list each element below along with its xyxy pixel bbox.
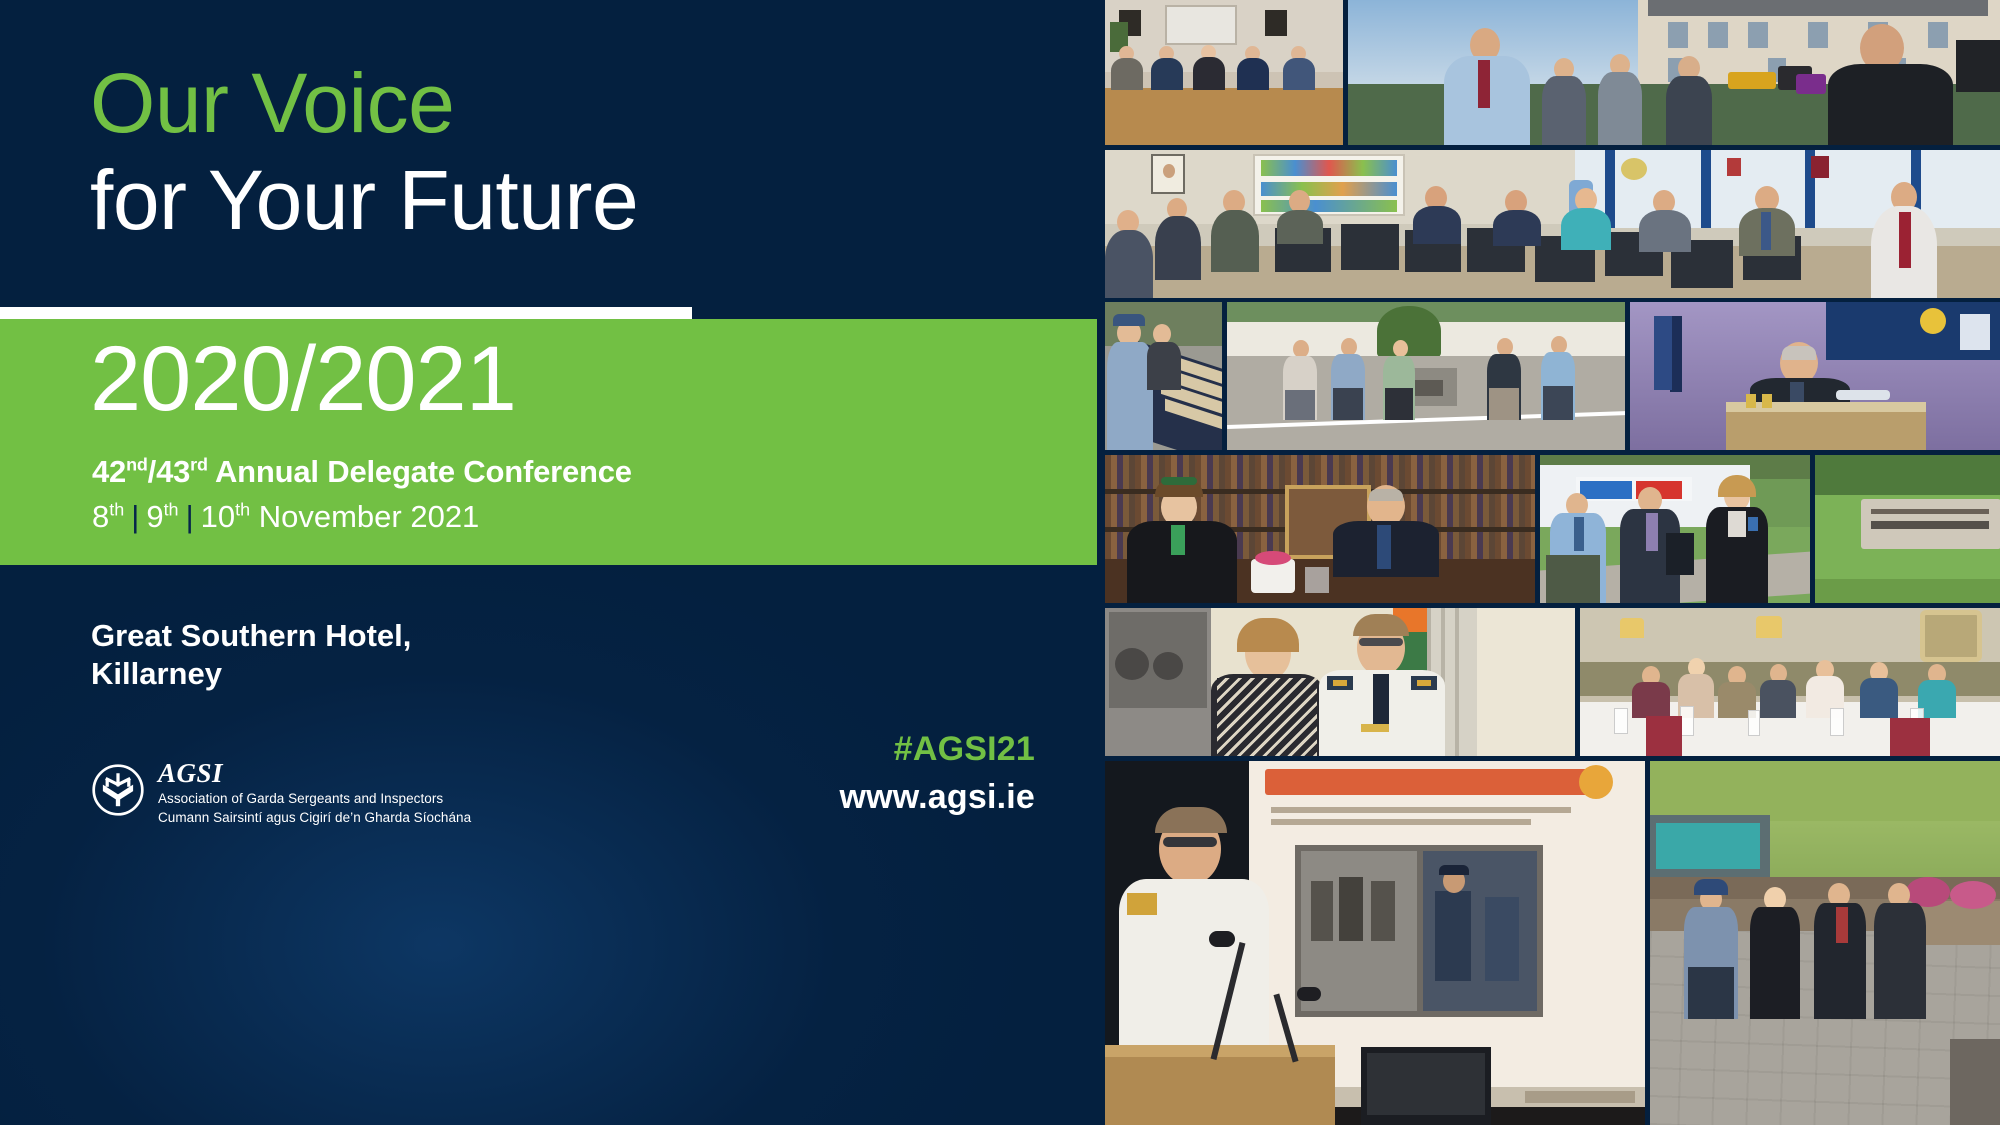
seated-audience-dining-room-photo: [1580, 608, 2000, 756]
date-day-1: 8: [92, 499, 109, 534]
garda-officer-reviewing-documents-photo: [1105, 302, 1222, 450]
speaker-at-podium-agsi-banner-photo: [1630, 302, 2000, 450]
collage-row: [1105, 302, 2000, 450]
presentation-new-operating-model-photo: [1105, 761, 1645, 1125]
date-month-year: November 2021: [250, 499, 479, 534]
headline-line-2: for Your Future: [90, 159, 638, 242]
agsi-circular-emblem-icon: [91, 763, 145, 817]
headline-line-1: Our Voice: [90, 62, 638, 145]
agsi-logo: AGSI Association of Garda Sergeants and …: [91, 760, 471, 827]
collage-row: [1105, 455, 2000, 603]
garda-headquarters-sign-photo: [1815, 455, 2000, 603]
conference-edition-label: 42nd/43rd Annual Delegate Conference: [92, 454, 632, 490]
collage-row: [1105, 0, 2000, 145]
date-day-1-suffix: th: [109, 500, 124, 520]
agsi-logo-text: AGSI Association of Garda Sergeants and …: [158, 760, 471, 827]
collage-row: [1105, 608, 2000, 756]
agsi-name-irish: Cumann Sairsintí agus Cigirí de’n Gharda…: [158, 809, 471, 828]
event-hashtag: #AGSI21: [839, 732, 1035, 768]
page-title: Our Voice for Your Future: [90, 62, 638, 242]
three-delegates-walking-photo: [1540, 455, 1810, 603]
website-url[interactable]: www.agsi.ie: [839, 780, 1035, 816]
date-day-3: 10: [201, 499, 235, 534]
venue-line-2: Killarney: [91, 655, 411, 693]
edition-b-suffix: rd: [190, 455, 208, 475]
conference-years: 2020/2021: [90, 333, 516, 425]
boardroom-panel-five-people-photo: [1105, 0, 1343, 145]
collage-row: [1105, 150, 2000, 298]
conference-poster: Our Voice for Your Future 2020/2021 42nd…: [0, 0, 2000, 1125]
date-day-2-suffix: th: [164, 500, 179, 520]
conference-dates: 8th|9th|10th November 2021: [92, 499, 479, 535]
library-interview-two-people-photo: [1105, 455, 1535, 603]
white-divider-bar: [0, 307, 692, 319]
date-separator-1: |: [124, 499, 146, 535]
date-day-2: 9: [146, 499, 163, 534]
memorial-garden-group-photo: [1227, 302, 1625, 450]
edition-title: Annual Delegate Conference: [208, 454, 632, 489]
agsi-acronym: AGSI: [158, 760, 471, 787]
date-separator-2: |: [179, 499, 201, 535]
edition-a: 42: [92, 454, 126, 489]
green-details-band: 2020/2021 42nd/43rd Annual Delegate Conf…: [0, 319, 1097, 565]
edition-mid: /43: [148, 454, 191, 489]
group-outdoors-courtyard-photo: [1650, 761, 2000, 1125]
agsi-name-english: Association of Garda Sergeants and Inspe…: [158, 790, 471, 809]
left-content-panel: Our Voice for Your Future 2020/2021 42nd…: [0, 0, 1097, 1125]
venue-line-1: Great Southern Hotel,: [91, 617, 411, 655]
press-interview-outside-hotel-photo: [1348, 0, 2000, 145]
social-block: #AGSI21 www.agsi.ie: [839, 732, 1035, 815]
photo-collage: [1097, 0, 2000, 1125]
venue-address: Great Southern Hotel, Killarney: [91, 617, 411, 693]
date-day-3-suffix: th: [235, 500, 250, 520]
commissioner-and-delegate-portrait-photo: [1105, 608, 1575, 756]
collage-row: [1105, 761, 2000, 1125]
edition-a-suffix: nd: [126, 455, 148, 475]
conference-room-computers-delegates-photo: [1105, 150, 2000, 298]
